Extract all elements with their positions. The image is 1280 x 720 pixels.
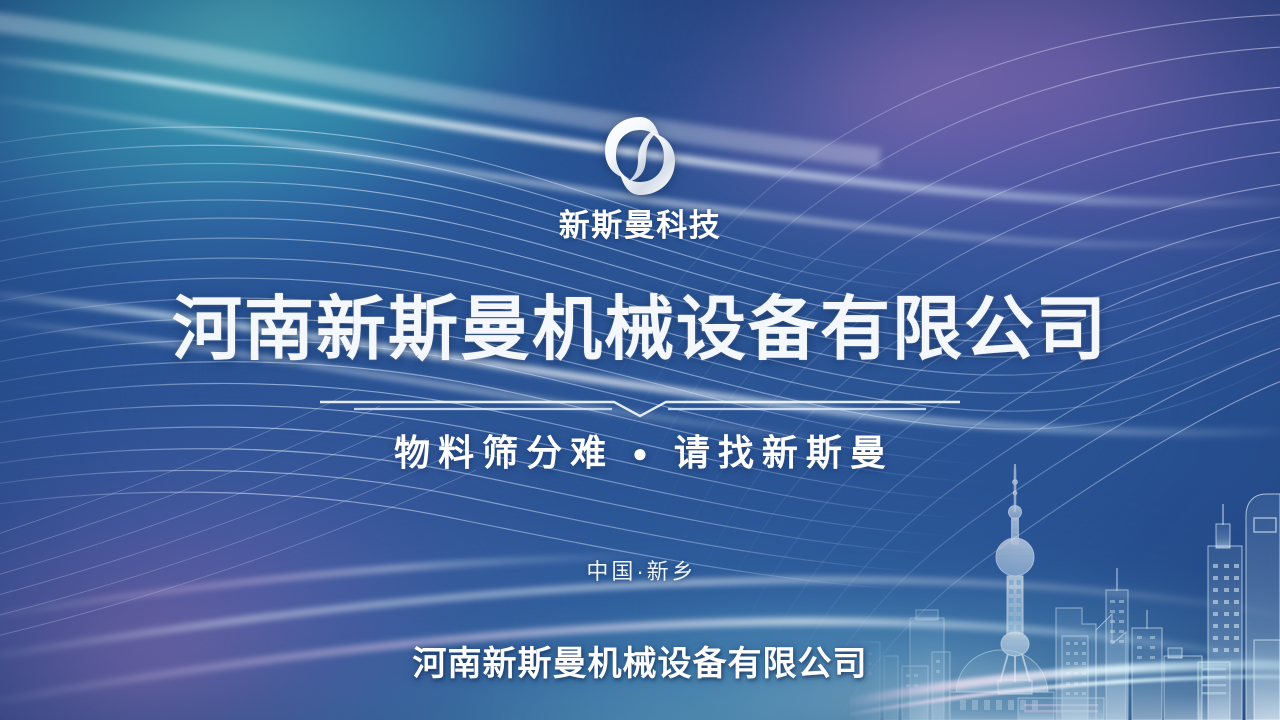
- logo-wordmark: 新斯曼科技: [559, 210, 722, 241]
- title-slide: 新斯曼科技 河南新斯曼机械设备有限公司 物料筛分难 ● 请找新斯曼 中国·新乡 …: [0, 0, 1280, 720]
- ornamental-chevron-divider: [320, 396, 960, 420]
- swirl-s-logo-icon: [590, 108, 690, 204]
- city-skyline-oriental-pearl-tower-icon: [850, 460, 1280, 720]
- brand-logo-block: 新斯曼科技: [0, 108, 1280, 241]
- tagline-left: 物料筛分难: [394, 432, 614, 473]
- tagline-bullet-icon: ●: [632, 438, 656, 468]
- page-title: 河南新斯曼机械设备有限公司: [0, 296, 1280, 366]
